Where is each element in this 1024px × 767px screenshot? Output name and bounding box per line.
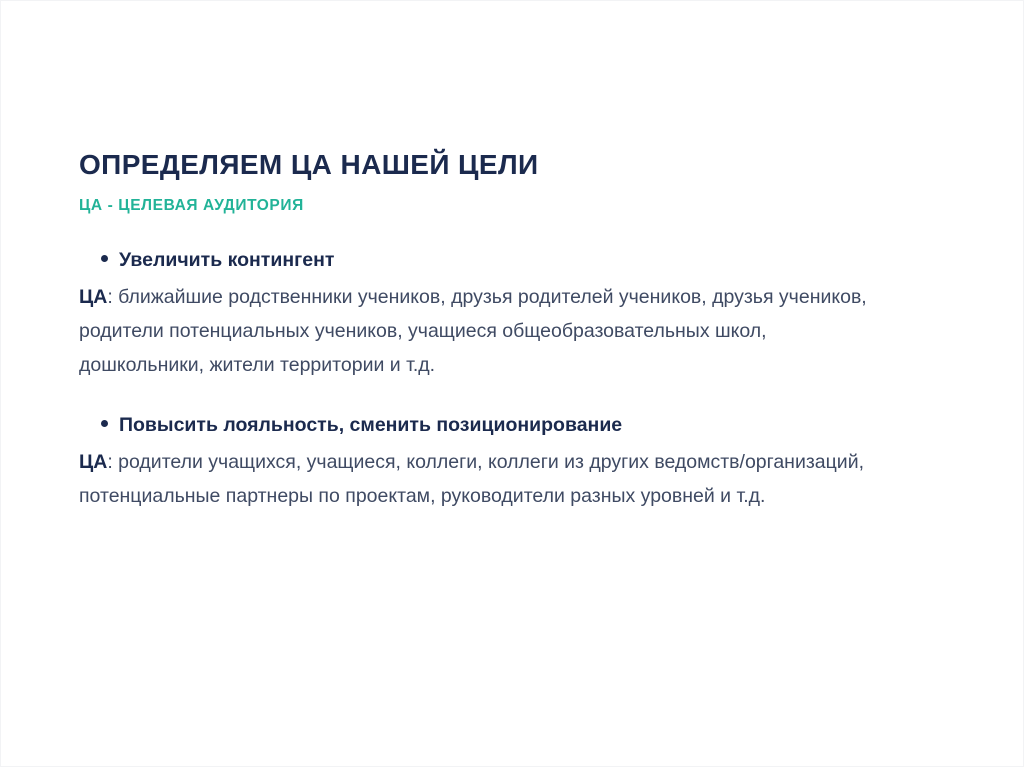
bullet-block-increase-enrollment: Увеличить контингент ЦА: ближайшие родст… (79, 248, 899, 383)
bullet-heading: Повысить лояльность, сменить позициониро… (101, 413, 899, 438)
bullet-body-rest: : ближайшие родственники учеников, друзь… (79, 286, 867, 376)
bullet-body-text: ЦА: родители учащихся, учащиеся, коллеги… (79, 446, 879, 514)
bullet-body-rest: : родители учащихся, учащиеся, коллеги, … (79, 451, 864, 507)
bullet-body-lead: ЦА (79, 451, 107, 473)
slide-canvas: ОПРЕДЕЛЯЕМ ЦА НАШЕЙ ЦЕЛИ ЦА - ЦЕЛЕВАЯ АУ… (0, 0, 1024, 767)
bullet-dot-icon (101, 255, 108, 262)
bullet-heading-label: Повысить лояльность, сменить позициониро… (119, 413, 622, 438)
page-title: ОПРЕДЕЛЯЕМ ЦА НАШЕЙ ЦЕЛИ (79, 149, 899, 181)
bullet-body-lead: ЦА (79, 286, 107, 308)
bullet-body-text: ЦА: ближайшие родственники учеников, дру… (79, 281, 879, 383)
bullet-dot-icon (101, 420, 108, 427)
bullet-heading-label: Увеличить контингент (119, 248, 334, 273)
page-subtitle: ЦА - ЦЕЛЕВАЯ АУДИТОРИЯ (79, 197, 899, 216)
bullet-block-increase-loyalty: Повысить лояльность, сменить позициониро… (79, 413, 899, 514)
slide-content: ОПРЕДЕЛЯЕМ ЦА НАШЕЙ ЦЕЛИ ЦА - ЦЕЛЕВАЯ АУ… (79, 149, 899, 514)
bullet-heading: Увеличить контингент (101, 248, 899, 273)
